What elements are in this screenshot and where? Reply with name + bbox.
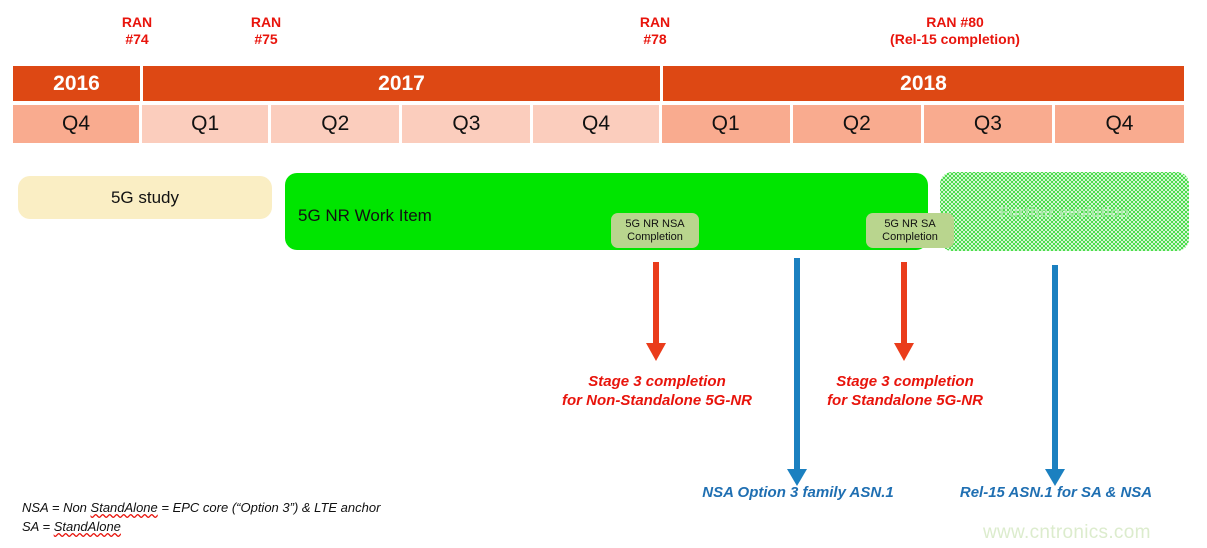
- ran-milestone-80: RAN #80 (Rel-15 completion): [830, 14, 1080, 48]
- caption-stage3-sa: Stage 3 completion for Standalone 5G-NR: [800, 372, 1010, 410]
- caption-nsa-asn1: NSA Option 3 family ASN.1: [672, 483, 924, 502]
- ran-milestone-74: RAN #74: [97, 14, 177, 48]
- flag-5g-nr-sa-completion: 5G NR SA Completion: [866, 213, 954, 248]
- watermark: www.cntronics.com: [983, 522, 1151, 544]
- bar-further-evolution-label: Further evolution: [940, 204, 1189, 221]
- arrow-nsa-stage3: [646, 262, 666, 361]
- quarter-cell-2018-q3: Q3: [924, 105, 1052, 143]
- footnote-legend: NSA = Non StandAlone = EPC core (“Option…: [22, 498, 380, 536]
- quarter-cell-2016-q4: Q4: [13, 105, 139, 143]
- quarter-cell-2017-q4: Q4: [533, 105, 658, 143]
- caption-rel15-asn1: Rel-15 ASN.1 for SA & NSA: [932, 483, 1180, 502]
- quarter-cell-2017-q3: Q3: [402, 105, 530, 143]
- arrow-head-icon: [646, 343, 666, 361]
- arrow-sa-stage3: [894, 262, 914, 361]
- year-cell-2016: 2016: [13, 66, 140, 101]
- footnote-nsa-prefix: NSA = Non: [22, 500, 91, 515]
- ran-milestone-78: RAN #78: [615, 14, 695, 48]
- year-row: 2016 2017 2018: [13, 66, 1184, 101]
- footnote-line-sa: SA = StandAlone: [22, 517, 380, 536]
- flag-5g-nr-nsa-completion: 5G NR NSA Completion: [611, 213, 699, 248]
- arrow-shaft: [653, 262, 659, 344]
- bar-5g-nr-work-item: 5G NR Work Item: [285, 173, 928, 250]
- arrow-shaft: [901, 262, 907, 344]
- footnote-nsa-term: StandAlone: [91, 500, 158, 515]
- bar-5g-nr-work-item-label: 5G NR Work Item: [298, 206, 432, 226]
- caption-stage3-nsa: Stage 3 completion for Non-Standalone 5G…: [540, 372, 774, 410]
- footnote-line-nsa: NSA = Non StandAlone = EPC core (“Option…: [22, 498, 380, 517]
- timeline-diagram: RAN #74 RAN #75 RAN #78 RAN #80 (Rel-15 …: [0, 0, 1207, 548]
- footnote-sa-prefix: SA =: [22, 519, 54, 534]
- quarter-cell-2018-q2: Q2: [793, 105, 921, 143]
- year-cell-2017: 2017: [143, 66, 660, 101]
- quarter-cell-2018-q1: Q1: [662, 105, 790, 143]
- year-cell-2018: 2018: [663, 66, 1184, 101]
- quarter-row: Q4 Q1 Q2 Q3 Q4 Q1 Q2 Q3 Q4: [13, 105, 1184, 143]
- arrow-shaft: [794, 258, 800, 470]
- ran-milestone-75: RAN #75: [226, 14, 306, 48]
- bar-5g-study: 5G study: [18, 176, 272, 219]
- footnote-sa-term: StandAlone: [54, 519, 121, 534]
- arrow-head-icon: [894, 343, 914, 361]
- footnote-nsa-suffix: = EPC core (“Option 3”) & LTE anchor: [158, 500, 381, 515]
- bar-further-evolution: Further evolution: [940, 172, 1189, 251]
- arrow-rel15-asn1: [1045, 265, 1065, 486]
- quarter-cell-2017-q2: Q2: [271, 105, 399, 143]
- quarter-cell-2017-q1: Q1: [142, 105, 268, 143]
- arrow-shaft: [1052, 265, 1058, 470]
- bar-5g-study-label: 5G study: [111, 188, 179, 208]
- timeline-grid: 2016 2017 2018 Q4 Q1 Q2 Q3 Q4 Q1 Q2 Q3 Q…: [13, 66, 1184, 143]
- quarter-cell-2018-q4: Q4: [1055, 105, 1184, 143]
